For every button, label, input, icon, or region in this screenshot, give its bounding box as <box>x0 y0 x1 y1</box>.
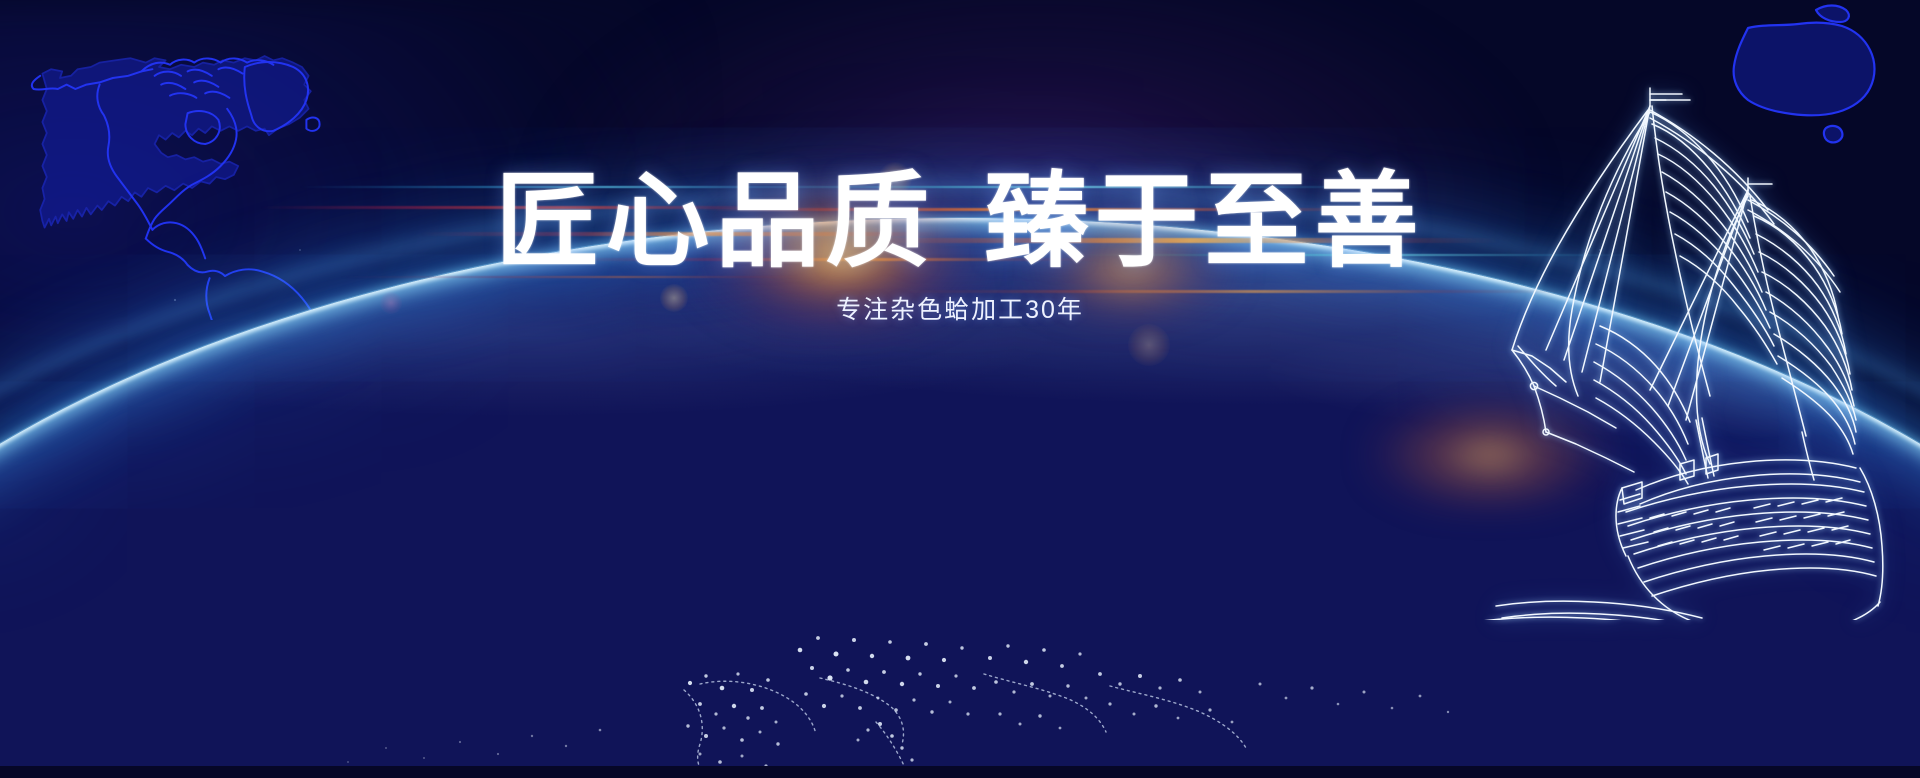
bottom-bar <box>0 766 1920 778</box>
headline-part-1: 匠心品质 <box>496 168 936 277</box>
headline-part-2: 臻于至善 <box>984 168 1424 277</box>
page-title: 匠心品质 臻于至善 <box>0 168 1920 277</box>
page-subtitle: 专注杂色蛤加工30年 <box>0 290 1920 326</box>
marketing-banner: 匠心品质 臻于至善 专注杂色蛤加工30年 <box>0 0 1920 778</box>
